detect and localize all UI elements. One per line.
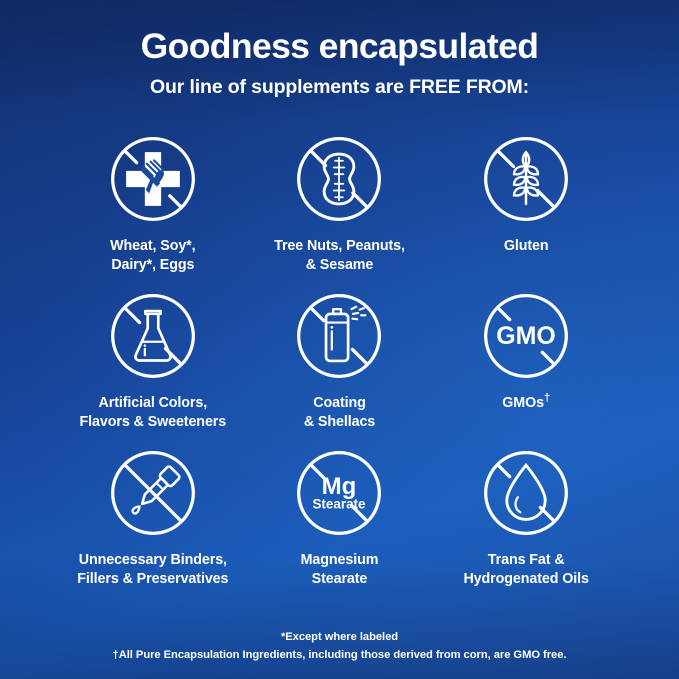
dagger-footnote-marker: † (544, 392, 550, 404)
free-from-item-trans-fat: Trans Fat & Hydrogenated Oils (433, 445, 620, 602)
no-allergens-cross-fork-icon (105, 131, 201, 227)
page-subtitle: Our line of supplements are FREE FROM: (0, 76, 679, 99)
free-from-item-gmo: GMO GMOs† (433, 288, 620, 445)
free-from-item-nuts: Tree Nuts, Peanuts, & Sesame (246, 131, 433, 288)
no-spray-can-icon (291, 288, 387, 384)
no-wheat-stalk-icon (478, 131, 574, 227)
no-dropper-icon (105, 445, 201, 541)
free-from-item-label: Unnecessary Binders, Fillers & Preservat… (77, 551, 228, 589)
free-from-item-label: Magnesium Stearate (301, 551, 379, 589)
free-from-infographic: Goodness encapsulated Our line of supple… (0, 0, 679, 679)
free-from-item-label: Gluten (504, 237, 549, 256)
free-from-item-mg-stearate: Mg Stearate Magnesium Stearate (246, 445, 433, 602)
no-mg-stearate-icon: Mg Stearate (291, 445, 387, 541)
no-gmo-icon: GMO (478, 288, 574, 384)
footnote-asterisk: *Except where labeled (0, 629, 679, 646)
free-from-item-label: Coating & Shellacs (304, 394, 375, 432)
free-from-item-coating: Coating & Shellacs (246, 288, 433, 445)
free-from-item-binders: Unnecessary Binders, Fillers & Preservat… (60, 445, 247, 602)
free-from-item-label: Wheat, Soy*, Dairy*, Eggs (110, 237, 195, 275)
header: Goodness encapsulated Our line of supple… (0, 0, 679, 99)
gmo-icon-text: GMO (496, 322, 556, 350)
free-from-item-artificial-colors: Artificial Colors, Flavors & Sweeteners (60, 288, 247, 445)
free-from-item-label: Tree Nuts, Peanuts, & Sesame (274, 237, 405, 275)
no-peanut-icon (291, 131, 387, 227)
free-from-item-label: GMOs† (502, 394, 550, 413)
footnote-dagger: †All Pure Encapsulation Ingredients, inc… (0, 647, 679, 664)
free-from-item-gluten: Gluten (433, 131, 620, 288)
free-from-grid: Wheat, Soy*, Dairy*, Eggs Tree Nu (60, 131, 620, 602)
free-from-item-allergens: Wheat, Soy*, Dairy*, Eggs (60, 131, 247, 288)
free-from-item-label: Artificial Colors, Flavors & Sweeteners (80, 394, 227, 432)
stearate-icon-text: Stearate (313, 496, 367, 511)
no-oil-droplet-icon (478, 445, 574, 541)
page-title: Goodness encapsulated (0, 26, 679, 67)
free-from-item-label: Trans Fat & Hydrogenated Oils (463, 551, 588, 589)
no-flask-icon (105, 288, 201, 384)
footnotes: *Except where labeled †All Pure Encapsul… (0, 629, 679, 679)
